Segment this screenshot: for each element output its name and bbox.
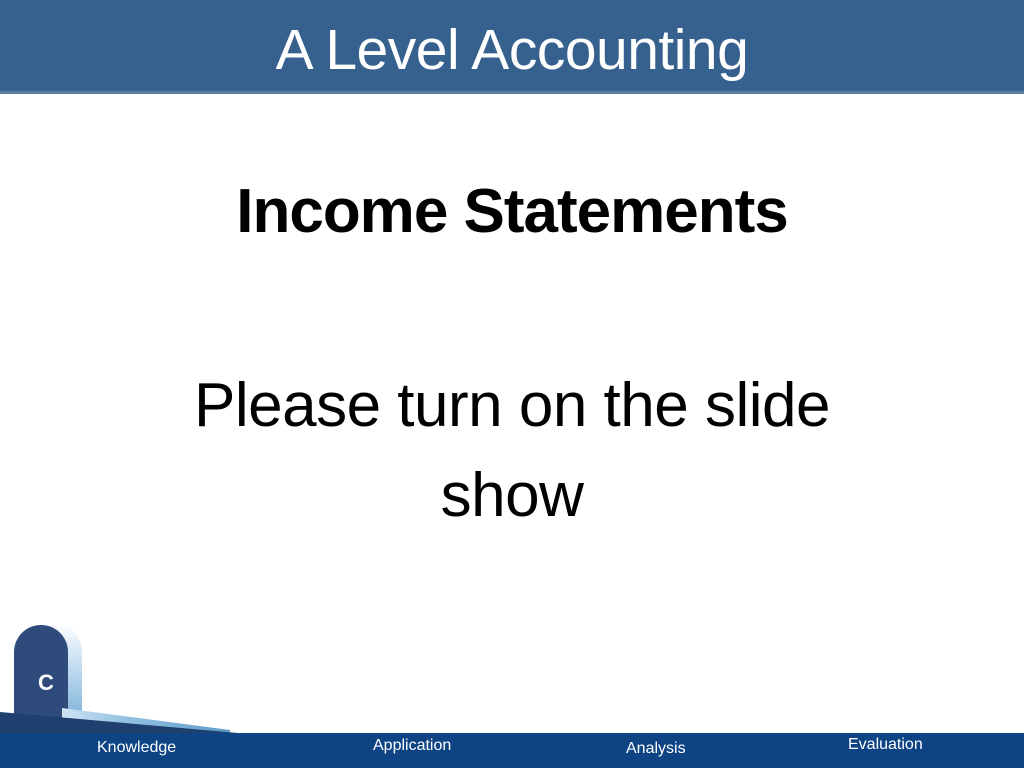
footer-item-application[interactable]: Application (373, 737, 451, 755)
footer-item-evaluation[interactable]: Evaluation (848, 736, 923, 754)
page-title: A Level Accounting (0, 18, 1024, 82)
logo-letter: C (38, 670, 54, 695)
footer-item-knowledge[interactable]: Knowledge (97, 739, 176, 757)
body-spacer (80, 249, 944, 361)
body-headline: Income Statements (80, 175, 944, 249)
slide-canvas: A Level Accounting Income Statements Ple… (0, 0, 1024, 768)
college-arch-logo: C (0, 612, 240, 737)
arch-logo-icon: C (0, 612, 240, 737)
slide-body: Income Statements Please turn on the sli… (80, 175, 944, 541)
title-bar-underline (0, 91, 1024, 94)
footer-item-analysis[interactable]: Analysis (626, 740, 686, 758)
body-instruction: Please turn on the slide show (80, 361, 944, 541)
